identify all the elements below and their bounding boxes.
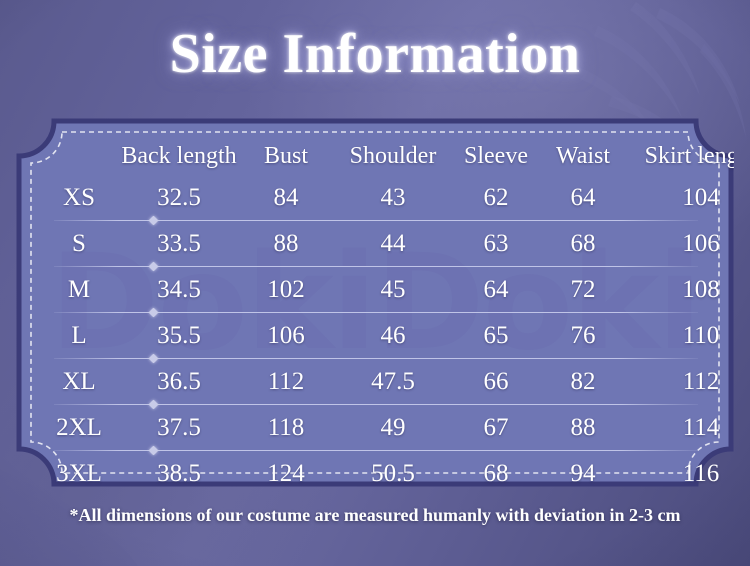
cell-skirt-length: 106 [626, 230, 734, 258]
cell-skirt-length: 110 [626, 322, 734, 350]
cell-shoulder: 47.5 [334, 368, 452, 396]
cell-size: 3XL [38, 460, 120, 488]
cell-shoulder: 46 [334, 322, 452, 350]
cell-skirt-length: 116 [626, 460, 734, 488]
table-header-row: Back length Bust Shoulder Sleeve Waist S… [38, 136, 712, 176]
cell-back-length: 38.5 [120, 460, 238, 488]
cell-size: XS [38, 184, 120, 212]
cell-bust: 112 [238, 368, 334, 396]
cell-size: S [38, 230, 120, 258]
cell-back-length: 35.5 [120, 322, 238, 350]
cell-back-length: 33.5 [120, 230, 238, 258]
cell-sleeve: 65 [452, 322, 540, 350]
cell-bust: 88 [238, 230, 334, 258]
cell-sleeve: 63 [452, 230, 540, 258]
cell-waist: 82 [540, 368, 626, 396]
header-skirt-length: Skirt length [626, 143, 734, 170]
cell-back-length: 34.5 [120, 276, 238, 304]
cell-bust: 118 [238, 414, 334, 442]
cell-sleeve: 64 [452, 276, 540, 304]
cell-waist: 76 [540, 322, 626, 350]
cell-waist: 72 [540, 276, 626, 304]
table-row: 2XL 37.5 118 49 67 88 114 [38, 406, 712, 449]
cell-back-length: 36.5 [120, 368, 238, 396]
cell-skirt-length: 112 [626, 368, 734, 396]
size-table: Back length Bust Shoulder Sleeve Waist S… [16, 118, 734, 487]
panel-content: DokiDoki Back length Bust Shoulder Sleev… [16, 118, 734, 487]
table-row: XL 36.5 112 47.5 66 82 112 [38, 360, 712, 403]
measurement-disclaimer: *All dimensions of our costume are measu… [0, 505, 750, 526]
cell-waist: 88 [540, 414, 626, 442]
cell-sleeve: 62 [452, 184, 540, 212]
page-title: Size Information [0, 26, 750, 82]
table-row: L 35.5 106 46 65 76 110 [38, 314, 712, 357]
cell-shoulder: 45 [334, 276, 452, 304]
cell-shoulder: 50.5 [334, 460, 452, 488]
cell-bust: 106 [238, 322, 334, 350]
cell-skirt-length: 108 [626, 276, 734, 304]
cell-size: L [38, 322, 120, 350]
size-chart-panel: DokiDoki Back length Bust Shoulder Sleev… [16, 118, 734, 487]
cell-waist: 64 [540, 184, 626, 212]
header-sleeve: Sleeve [452, 143, 540, 170]
cell-skirt-length: 114 [626, 414, 734, 442]
cell-shoulder: 43 [334, 184, 452, 212]
cell-shoulder: 44 [334, 230, 452, 258]
header-back-length: Back length [120, 143, 238, 170]
cell-back-length: 37.5 [120, 414, 238, 442]
cell-bust: 124 [238, 460, 334, 488]
table-row: S 33.5 88 44 63 68 106 [38, 222, 712, 265]
table-row: XS 32.5 84 43 62 64 104 [38, 176, 712, 219]
cell-size: XL [38, 368, 120, 396]
table-row: 3XL 38.5 124 50.5 68 94 116 [38, 452, 712, 487]
cell-size: 2XL [38, 414, 120, 442]
cell-back-length: 32.5 [120, 184, 238, 212]
header-shoulder: Shoulder [334, 143, 452, 170]
cell-shoulder: 49 [334, 414, 452, 442]
cell-bust: 84 [238, 184, 334, 212]
table-row: M 34.5 102 45 64 72 108 [38, 268, 712, 311]
cell-sleeve: 68 [452, 460, 540, 488]
header-waist: Waist [540, 143, 626, 170]
cell-waist: 68 [540, 230, 626, 258]
cell-sleeve: 66 [452, 368, 540, 396]
header-bust: Bust [238, 143, 334, 170]
cell-bust: 102 [238, 276, 334, 304]
cell-sleeve: 67 [452, 414, 540, 442]
cell-waist: 94 [540, 460, 626, 488]
cell-size: M [38, 276, 120, 304]
cell-skirt-length: 104 [626, 184, 734, 212]
